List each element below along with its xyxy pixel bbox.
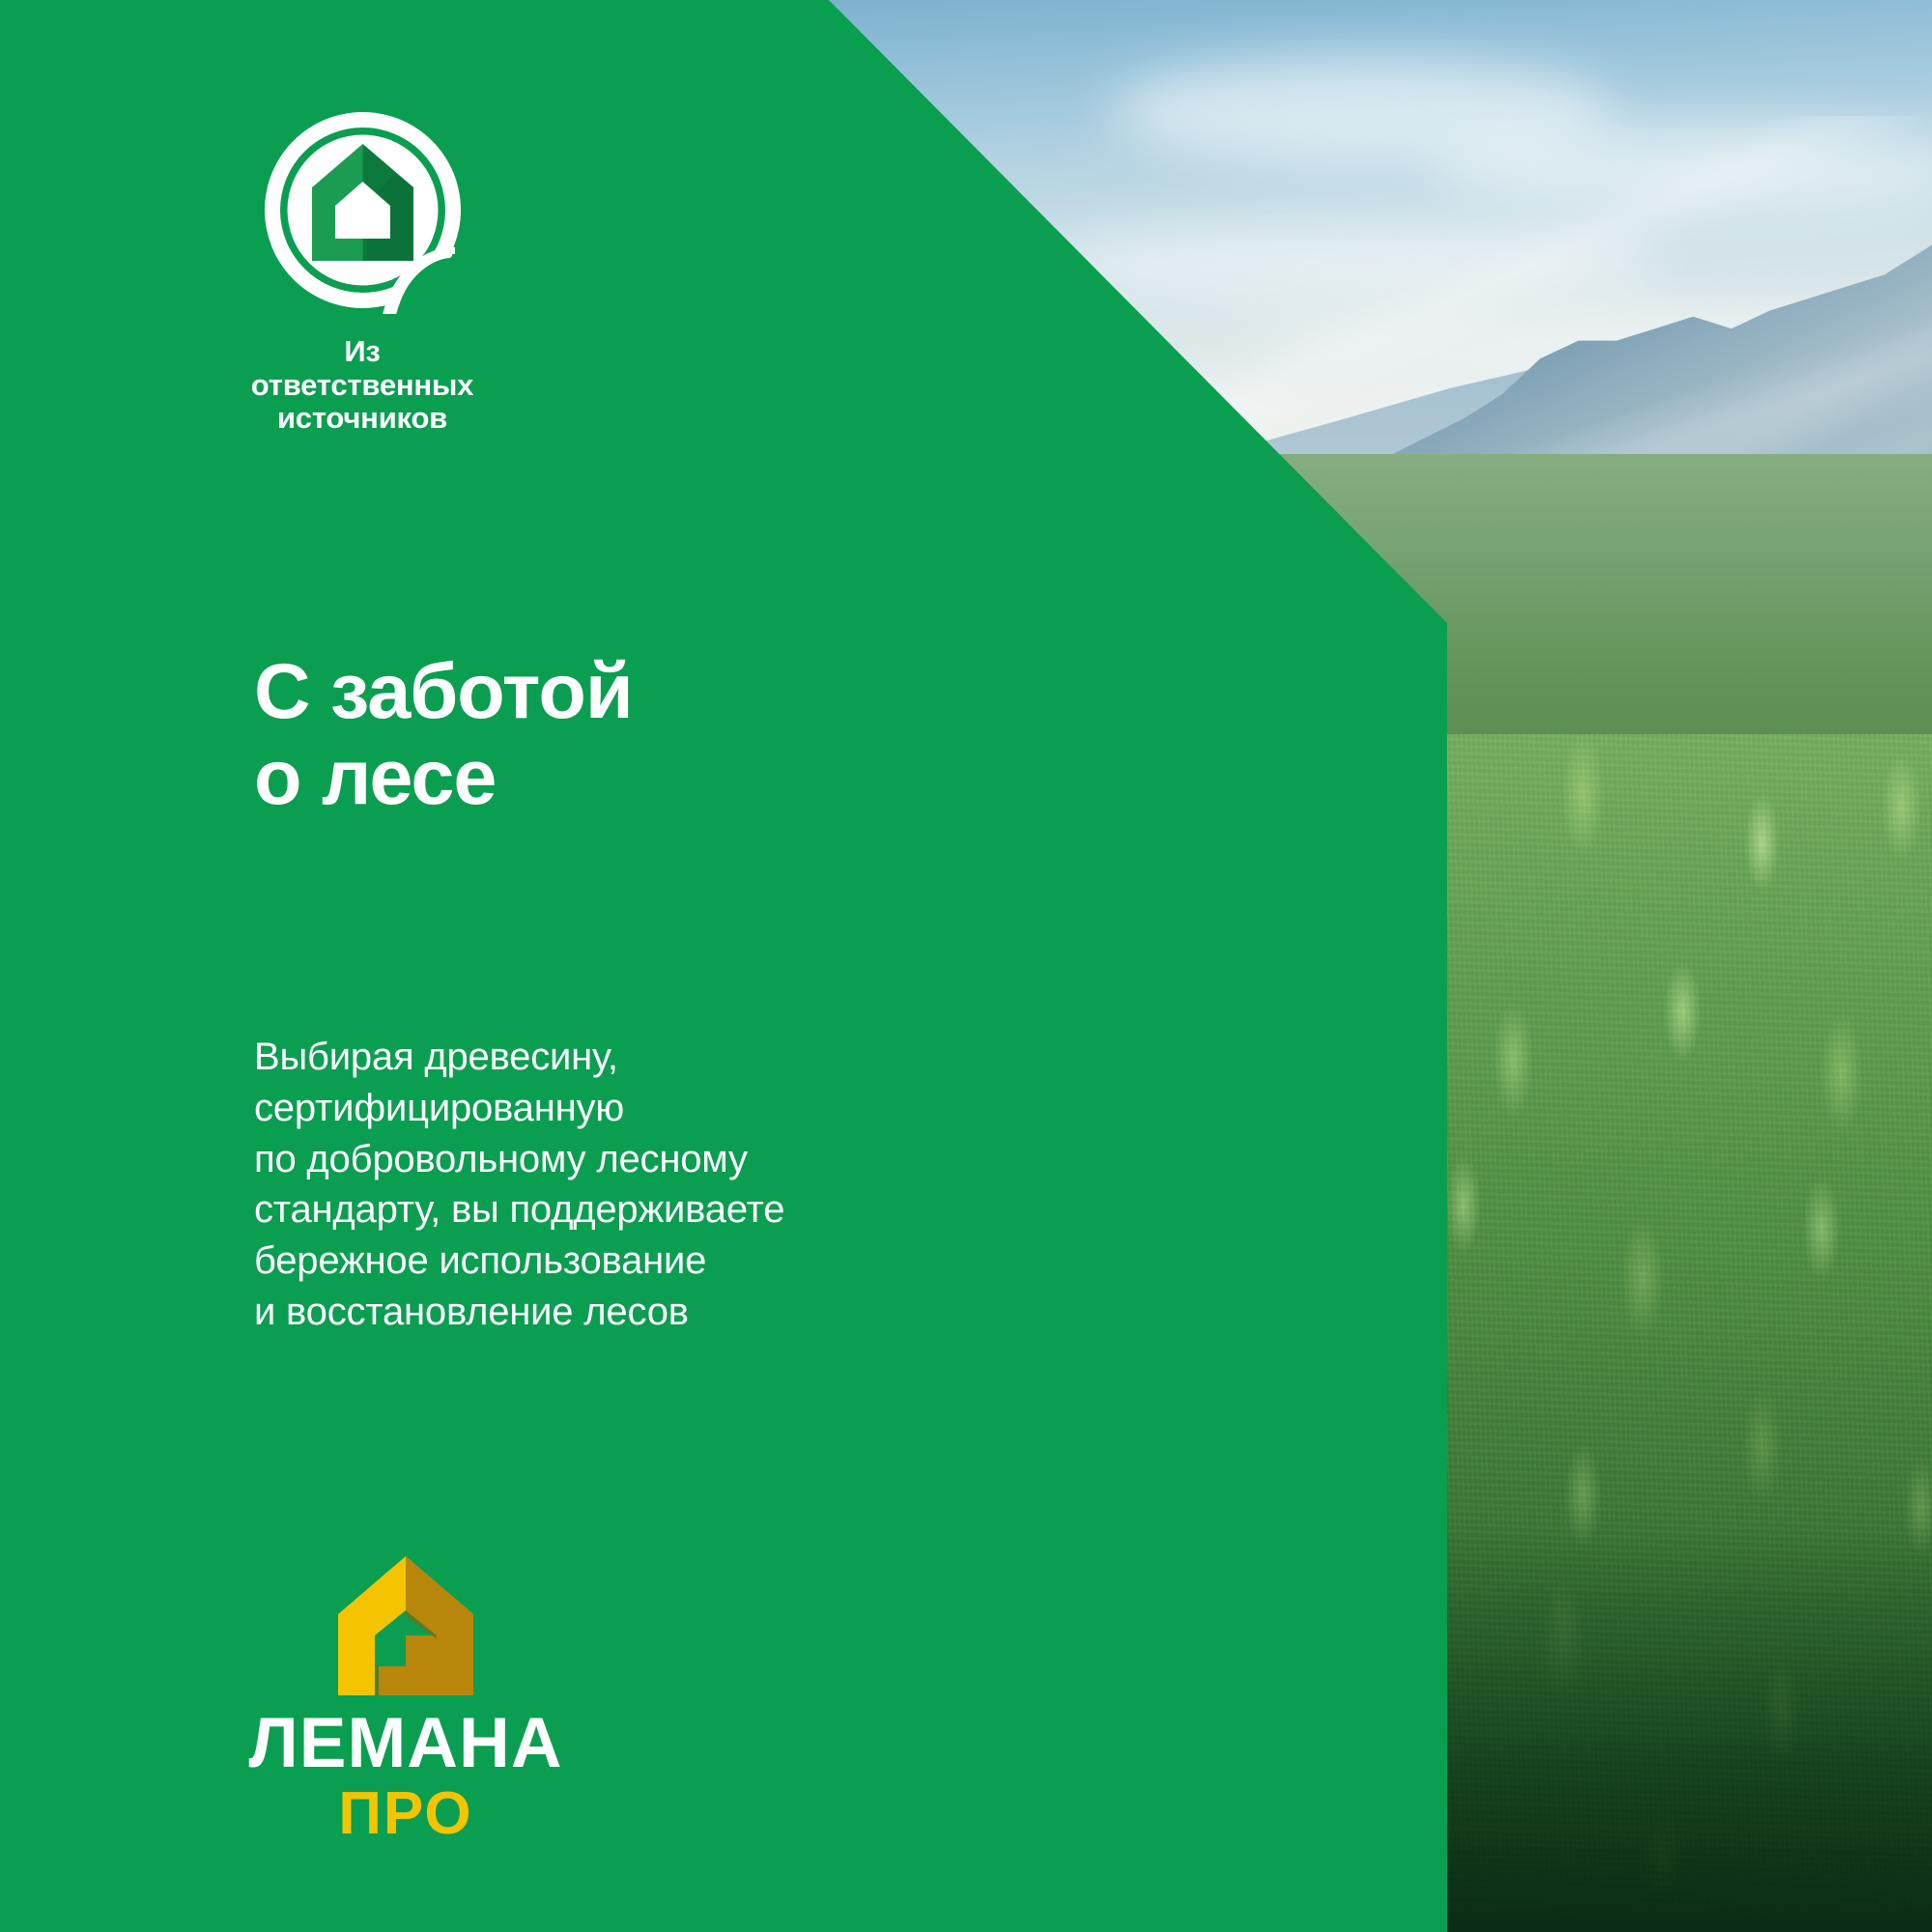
body-text: Выбирая древесину, сертифицированную по … bbox=[254, 1032, 784, 1338]
house-roof-icon bbox=[328, 1550, 483, 1700]
content-layer: Из ответственных источников С заботой о … bbox=[0, 0, 1932, 1932]
brand-sub: ПРО bbox=[237, 1784, 575, 1844]
page-title: С заботой о лесе bbox=[254, 649, 633, 821]
certification-logo: Из ответственных источников bbox=[246, 106, 478, 436]
certification-caption: Из ответственных источников bbox=[246, 335, 478, 436]
brand-logo: ЛЕМАНА ПРО bbox=[237, 1550, 575, 1844]
house-leaf-circle-icon bbox=[259, 106, 467, 314]
brand-name: ЛЕМАНА bbox=[237, 1708, 575, 1778]
